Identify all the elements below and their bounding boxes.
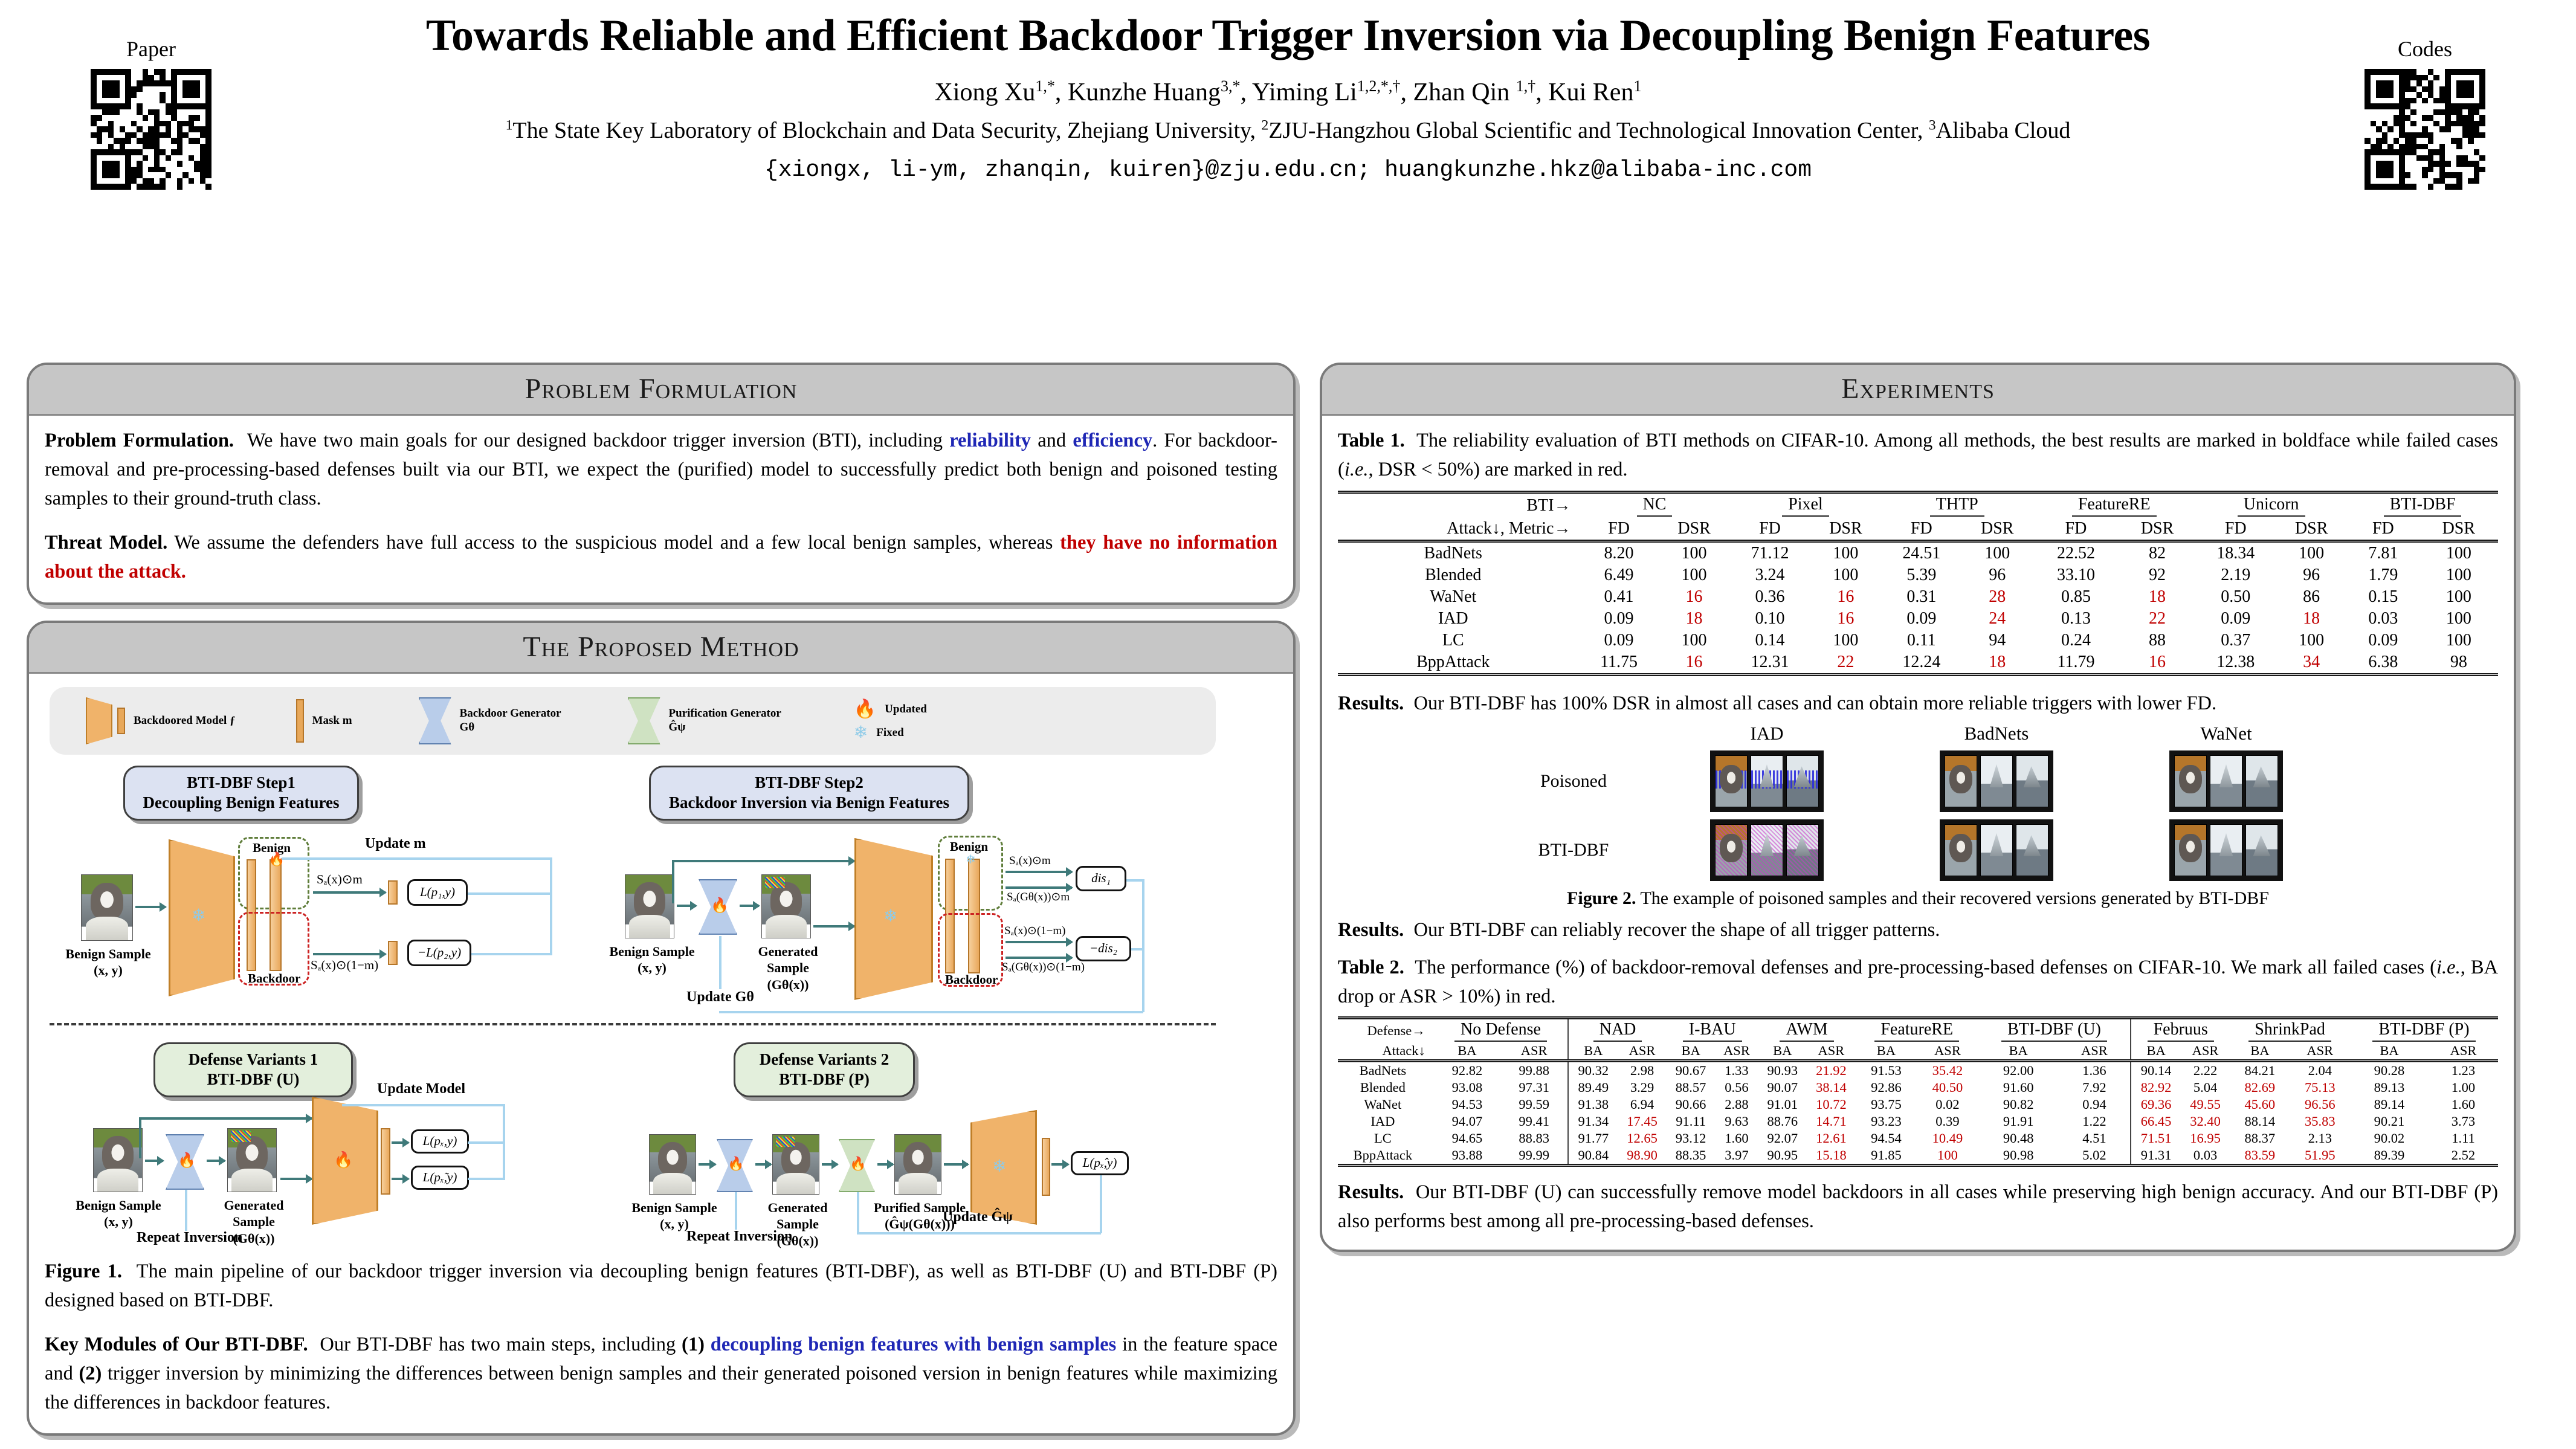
sample-thumb-dog xyxy=(1715,755,1748,807)
table1-cell-2-4: 0.31 xyxy=(1881,586,1961,608)
repeat-inversion-label-v1: Repeat Inversion xyxy=(137,1230,242,1246)
variant2-line1: Defense Variants 2 xyxy=(750,1050,899,1070)
table2-cell-4-0: 94.65 xyxy=(1434,1130,1500,1147)
panel-problem-header: Problem Formulation xyxy=(29,365,1293,416)
results-1-paragraph: Results. Our BTI-DBF has 100% DSR in alm… xyxy=(1338,689,2498,718)
table2-cell-3-12: 66.45 xyxy=(2131,1113,2181,1130)
step1-line1: BTI-DBF Step1 xyxy=(140,773,343,793)
author-list: Xiong Xu1,*, Kunzhe Huang3,*, Yiming Li1… xyxy=(338,77,2238,109)
snowflake-icon-step1: ❄ xyxy=(192,908,205,925)
table2-metric-4-0: BA xyxy=(1856,1042,1917,1061)
table2-cell-1-15: 75.13 xyxy=(2290,1079,2350,1096)
arrow-to-loss2-v1 xyxy=(392,1178,408,1180)
table2-cell-1-16: 89.13 xyxy=(2350,1079,2429,1096)
table1-cell-4-10: 0.09 xyxy=(2347,630,2419,651)
table2-metric-2-1: ASR xyxy=(1715,1042,1758,1061)
table2-cell-0-12: 90.14 xyxy=(2131,1060,2181,1079)
flame-icon-generator-step2: 🔥 xyxy=(711,899,729,913)
table2-cell-4-7: 12.61 xyxy=(1807,1130,1856,1147)
table2-cell-1-11: 7.92 xyxy=(2059,1079,2131,1096)
update-model-v-v1 xyxy=(503,1104,505,1179)
update-model-h1-v1 xyxy=(468,1141,505,1144)
table2-cell-0-14: 84.21 xyxy=(2230,1060,2290,1079)
table2-cell-3-13: 32.40 xyxy=(2181,1113,2230,1130)
generated-sample-image-step2 xyxy=(761,874,811,938)
snowflake-icon-v2: ❄ xyxy=(992,1158,1006,1175)
table1-metric-4-1: DSR xyxy=(2276,518,2347,541)
table1-cell-0-11: 100 xyxy=(2419,541,2498,564)
table2-cell-4-12: 71.51 xyxy=(2131,1130,2181,1147)
table2-cell-4-9: 10.49 xyxy=(1917,1130,1978,1147)
table1-cell-1-5: 96 xyxy=(1961,564,2033,586)
sample-thumb-dog xyxy=(2174,755,2207,807)
sample-thumb-ship2 xyxy=(2016,824,2048,876)
sample-thumb-ship2 xyxy=(1786,755,1819,807)
arrow-generator-to-gen-v2 xyxy=(755,1163,771,1166)
right-column: Experiments Table 1. The reliability eva… xyxy=(1320,363,2516,1436)
table1-cell-0-10: 7.81 xyxy=(2347,541,2419,564)
generated-sample-image-v1 xyxy=(227,1128,277,1192)
expr-sagx-m-step2: Sₐ(Gθ(x))⊙m xyxy=(1007,890,1070,904)
table2-attack-0: BadNets xyxy=(1338,1060,1434,1079)
table2-corner-top: Defense→ xyxy=(1338,1018,1434,1042)
table2-cell-5-6: 90.95 xyxy=(1758,1147,1807,1166)
panel-experiments-header: Experiments xyxy=(1322,365,2514,416)
arrow-to-generator-v1 xyxy=(145,1160,163,1162)
table2-cell-5-9: 100 xyxy=(1917,1147,1978,1166)
flame-icon-generator-v2: 🔥 xyxy=(728,1157,744,1170)
step2-title-box: BTI-DBF Step2 Backdoor Inversion via Ben… xyxy=(649,766,969,821)
arrow-generated-to-model-step2 xyxy=(813,925,854,928)
legend-label-purification-generator: Purification Generator Ĝψ xyxy=(669,707,781,734)
table1-metric-0-0: FD xyxy=(1579,518,1658,541)
table1-cell-1-0: 6.49 xyxy=(1579,564,1658,586)
codes-qr-block: Codes xyxy=(2365,36,2485,190)
table2-cell-1-17: 1.00 xyxy=(2429,1079,2498,1096)
table1-metric-2-0: FD xyxy=(1881,518,1961,541)
figure-2-caption: Figure 2. The example of poisoned sample… xyxy=(1338,888,2498,909)
table1-attack-1: Blended xyxy=(1338,564,1579,586)
repeat-inversion-v-v1 xyxy=(185,1190,187,1231)
table2-cell-3-16: 90.21 xyxy=(2350,1113,2429,1130)
table2-cell-2-13: 49.55 xyxy=(2181,1096,2230,1113)
table2-metric-5-0: BA xyxy=(1978,1042,2059,1061)
table2-attack-4: LC xyxy=(1338,1130,1434,1147)
trapezoid-model-icon xyxy=(86,697,112,744)
table2-cell-2-15: 96.56 xyxy=(2290,1096,2350,1113)
table2-cell-1-5: 0.56 xyxy=(1715,1079,1758,1096)
table2-metric-6-0: BA xyxy=(2131,1042,2181,1061)
sample-thumb-ship xyxy=(2210,824,2242,876)
table2-cell-4-3: 12.65 xyxy=(1618,1130,1667,1147)
benign-sample-caption-step1: Benign Sample (x, y) xyxy=(57,946,160,979)
table2-cell-5-16: 89.39 xyxy=(2350,1147,2429,1166)
table2-metric-1-1: ASR xyxy=(1618,1042,1667,1061)
flame-icon-purifier-v2: 🔥 xyxy=(850,1157,866,1170)
table1-cell-3-8: 0.09 xyxy=(2195,608,2276,630)
table2-metric-3-0: BA xyxy=(1758,1042,1807,1061)
expr-sax-1m-step1: Sₐ(x)⊙(1−m) xyxy=(311,958,378,973)
table-row: Blended93.0897.3189.493.2988.570.5690.07… xyxy=(1338,1079,2498,1096)
table1-cell-3-6: 0.13 xyxy=(2033,608,2119,630)
figure-1-caption: Figure 1. The main pipeline of our backd… xyxy=(45,1257,1277,1315)
arrow-sample-to-model-step1 xyxy=(135,906,166,908)
variant1-line1: Defense Variants 1 xyxy=(170,1050,337,1070)
table-defense-performance: Defense→No DefenseNADI-BAUAWMFeatureREBT… xyxy=(1338,1016,2498,1169)
variant1-title-box: Defense Variants 1 BTI-DBF (U) xyxy=(153,1042,353,1097)
benign-sample-caption-step2: Benign Sample (x, y) xyxy=(604,943,700,976)
table2-cell-0-16: 90.28 xyxy=(2350,1060,2429,1079)
step1-line2: Decoupling Benign Features xyxy=(140,793,343,813)
figure-2-column-headers: IAD BadNets WaNet xyxy=(1338,723,2498,744)
table1-metric-3-0: FD xyxy=(2033,518,2119,541)
table2-group-4: FeatureRE xyxy=(1856,1018,1978,1042)
table2-cell-5-10: 90.98 xyxy=(1978,1147,2059,1166)
arrow-to-loss1-v1 xyxy=(392,1141,408,1144)
step2-line2: Backdoor Inversion via Benign Features xyxy=(665,793,953,813)
table2-cell-4-15: 2.13 xyxy=(2290,1130,2350,1147)
table1-cell-1-9: 96 xyxy=(2276,564,2347,586)
fig2-cell-btidbf-iad xyxy=(1652,819,1882,881)
sample-thumb-dog xyxy=(2174,824,2207,876)
table1-cell-0-4: 24.51 xyxy=(1881,541,1961,564)
table1-cell-0-2: 71.12 xyxy=(1729,541,1810,564)
table2-metric-8-1: ASR xyxy=(2429,1042,2498,1061)
table2-cell-2-12: 69.36 xyxy=(2131,1096,2181,1113)
table2-cell-3-14: 88.14 xyxy=(2230,1113,2290,1130)
table2-group-3: AWM xyxy=(1758,1018,1856,1042)
results-2-paragraph: Results. Our BTI-DBF can reliably recove… xyxy=(1338,916,2498,945)
legend-item-backdoored-model: Backdoored Model ƒ xyxy=(86,697,236,744)
table2-group-6: Februus xyxy=(2131,1018,2230,1042)
codes-qr-label: Codes xyxy=(2365,36,2485,62)
panel-experiments-title: Experiments xyxy=(1841,373,1995,405)
table2-cell-4-6: 92.07 xyxy=(1758,1130,1807,1147)
table1-cell-4-2: 0.14 xyxy=(1729,630,1810,651)
fig2-cell-poisoned-iad xyxy=(1652,750,1882,812)
table2-cell-5-7: 15.18 xyxy=(1807,1147,1856,1166)
table2-metric-0-1: ASR xyxy=(1500,1042,1568,1061)
dis-feedback-h1-step2 xyxy=(1126,879,1144,882)
table-row: BadNets8.2010071.1210024.5110022.528218.… xyxy=(1338,541,2498,564)
table1-cell-5-6: 11.79 xyxy=(2033,651,2119,675)
arrow-sagx-1m-step2 xyxy=(1006,957,1072,959)
update-ghat-h-v2 xyxy=(857,1232,1101,1234)
purified-sample-image-v2 xyxy=(894,1134,941,1195)
table1-cell-5-1: 16 xyxy=(1659,651,1730,675)
mask-bar-icon xyxy=(296,699,304,743)
table-row: Blended6.491003.241005.399633.10922.1996… xyxy=(1338,564,2498,586)
table2-cell-5-3: 98.90 xyxy=(1618,1147,1667,1166)
table1-cell-0-8: 18.34 xyxy=(2195,541,2276,564)
table1-cell-2-3: 16 xyxy=(1810,586,1881,608)
table1-cell-0-1: 100 xyxy=(1659,541,1730,564)
table1-cell-2-6: 0.85 xyxy=(2033,586,2119,608)
paper-qr-code[interactable] xyxy=(91,69,211,190)
legend-item-mask: Mask m xyxy=(296,699,352,743)
fig2-col-header-badnets: BadNets xyxy=(1882,723,2111,744)
table2-cell-4-17: 1.11 xyxy=(2429,1130,2498,1147)
table2-cell-5-15: 51.95 xyxy=(2290,1147,2350,1166)
table1-cell-0-0: 8.20 xyxy=(1579,541,1658,564)
table2-cell-1-0: 93.08 xyxy=(1434,1079,1500,1096)
table1-cell-4-3: 100 xyxy=(1810,630,1881,651)
table2-cell-2-10: 90.82 xyxy=(1978,1096,2059,1113)
flame-icon: 🔥 xyxy=(854,700,876,718)
legend-item-fixed: ❄ Fixed xyxy=(854,724,927,741)
problem-formulation-paragraph: Problem Formulation. We have two main go… xyxy=(45,427,1277,513)
legend-label-mask: Mask m xyxy=(312,714,352,728)
fig2-row-label-btidbf: BTI-DBF xyxy=(1495,840,1652,860)
table2-cell-3-8: 93.23 xyxy=(1856,1113,1917,1130)
sample-thumb-ship2 xyxy=(2245,824,2278,876)
paper-qr-label: Paper xyxy=(91,36,211,62)
variant2-line2: BTI-DBF (P) xyxy=(750,1070,899,1089)
sample-thumb-ship xyxy=(1751,755,1783,807)
backdoor-feature-label-step1: Backdoor xyxy=(248,971,301,986)
table1-cell-3-10: 0.03 xyxy=(2347,608,2419,630)
table1-cell-4-7: 88 xyxy=(2119,630,2195,651)
table2-metric-0-0: BA xyxy=(1434,1042,1500,1061)
table2-cell-3-2: 91.34 xyxy=(1568,1113,1618,1130)
table1-cell-5-0: 11.75 xyxy=(1579,651,1658,675)
step2-line1: BTI-DBF Step2 xyxy=(665,773,953,793)
panel-problem-title: Problem Formulation xyxy=(525,373,798,405)
update-model-top-v1 xyxy=(342,1104,504,1106)
sample-thumb-dog xyxy=(1715,824,1748,876)
table2-cell-2-17: 1.60 xyxy=(2429,1096,2498,1113)
table2-cell-4-2: 91.77 xyxy=(1568,1130,1618,1147)
table1-cell-2-7: 18 xyxy=(2119,586,2195,608)
update-model-h2-v1 xyxy=(468,1178,505,1180)
table2-cell-3-0: 94.07 xyxy=(1434,1113,1500,1130)
table2-cell-1-8: 92.86 xyxy=(1856,1079,1917,1096)
legend-label-backdoored-model: Backdoored Model ƒ xyxy=(134,714,236,728)
flame-icon-generator-v1: 🔥 xyxy=(178,1154,196,1168)
dis-feedback-return-step2 xyxy=(719,1011,1143,1013)
backdoor-feature-label-step2: Backdoor xyxy=(945,972,998,987)
table1-group-3: FeatureRE xyxy=(2033,492,2195,518)
table1-metric-5-0: FD xyxy=(2347,518,2419,541)
panel-method-title: The Proposed Method xyxy=(523,631,799,663)
loss-box-pxt-v1: L(pₓ̃,y) xyxy=(411,1166,469,1190)
table1-cell-1-3: 100 xyxy=(1810,564,1881,586)
bypass-v-v1 xyxy=(139,1117,141,1158)
table2-cell-3-7: 14.71 xyxy=(1807,1113,1856,1130)
repeat-inversion-label-v2: Repeat Inversion xyxy=(686,1228,792,1245)
sample-thumb-ship xyxy=(1980,755,2013,807)
loss-box-pxh-v2: L(pₓ̂,y) xyxy=(1071,1151,1129,1175)
table2-cell-2-16: 89.14 xyxy=(2350,1096,2429,1113)
sample-thumb-ship2 xyxy=(2245,755,2278,807)
table1-cell-1-4: 5.39 xyxy=(1881,564,1961,586)
loss-box-p1-step1: L(p₁,y) xyxy=(407,879,468,906)
table2-cell-3-4: 91.11 xyxy=(1667,1113,1716,1130)
arrow-generated-to-model-v1 xyxy=(280,1178,312,1180)
expr-sagx-1m-step2: Sₐ(Gθ(x))⊙(1−m) xyxy=(1002,960,1085,974)
figure-2-grid: IAD BadNets WaNet Poisoned xyxy=(1338,723,2498,881)
loss-box-px-v1: L(pₓ,y) xyxy=(411,1129,469,1154)
table1-cell-0-3: 100 xyxy=(1810,541,1881,564)
arrow-bypass-to-model-v1 xyxy=(280,1117,312,1120)
table1-cell-3-5: 24 xyxy=(1961,608,2033,630)
results-3-paragraph: Results. Our BTI-DBF (U) can successfull… xyxy=(1338,1178,2498,1236)
table2-group-2: I-BAU xyxy=(1667,1018,1758,1042)
table2-corner-bottom: Attack↓ xyxy=(1338,1042,1434,1061)
table1-cell-2-1: 16 xyxy=(1659,586,1730,608)
table-row: WaNet94.5399.5991.386.9490.662.8891.0110… xyxy=(1338,1096,2498,1113)
table1-cell-2-10: 0.15 xyxy=(2347,586,2419,608)
variant2-title-box: Defense Variants 2 BTI-DBF (P) xyxy=(734,1042,915,1097)
table2-cell-5-5: 3.97 xyxy=(1715,1147,1758,1166)
figure-2-row-poisoned: Poisoned xyxy=(1338,750,2498,812)
table2-metric-1-0: BA xyxy=(1568,1042,1618,1061)
arrow-purified-to-model-v2 xyxy=(944,1163,968,1166)
table2-cell-1-2: 89.49 xyxy=(1568,1079,1618,1096)
table2-cell-4-1: 88.83 xyxy=(1500,1130,1568,1147)
table2-metric-8-0: BA xyxy=(2350,1042,2429,1061)
arrow-sax-1m-step2 xyxy=(1006,941,1072,943)
codes-qr-code[interactable] xyxy=(2365,69,2485,190)
expr-sax-1m-step2: Sₐ(x)⊙(1−m) xyxy=(1004,924,1066,938)
table2-cell-0-9: 35.42 xyxy=(1917,1060,1978,1079)
table2-cell-1-1: 97.31 xyxy=(1500,1079,1568,1096)
sample-thumb-ship xyxy=(1751,824,1783,876)
snowflake-icon-mask-step2: ❄ xyxy=(966,854,976,866)
table1-cell-0-7: 82 xyxy=(2119,541,2195,564)
table2-cell-1-14: 82.69 xyxy=(2230,1079,2290,1096)
table2-cell-0-5: 1.33 xyxy=(1715,1060,1758,1079)
table2-group-1: NAD xyxy=(1568,1018,1667,1042)
table2-cell-5-12: 91.31 xyxy=(2131,1147,2181,1166)
snowflake-icon-step2: ❄ xyxy=(883,908,897,925)
benign-sample-image-step1 xyxy=(81,874,133,941)
update-ghat-v-left-v2 xyxy=(857,1192,859,1233)
table1-cell-4-9: 100 xyxy=(2276,630,2347,651)
dis1-box-step2: dis₁ xyxy=(1076,866,1126,891)
table1-group-0: NC xyxy=(1579,492,1729,518)
table1-cell-3-11: 100 xyxy=(2419,608,2498,630)
table2-group-7: ShrinkPad xyxy=(2230,1018,2350,1042)
table1-cell-0-9: 100 xyxy=(2276,541,2347,564)
table2-cell-1-12: 82.92 xyxy=(2131,1079,2181,1096)
arrow-sax-m-step2 xyxy=(1006,871,1072,873)
table2-cell-5-13: 0.03 xyxy=(2181,1147,2230,1166)
table2-group-0: No Defense xyxy=(1434,1018,1569,1042)
arrow-purifier-to-sample-v2 xyxy=(877,1163,893,1166)
table1-cell-5-8: 12.38 xyxy=(2195,651,2276,675)
table-1-caption: Table 1. The reliability evaluation of B… xyxy=(1338,427,2498,485)
sample-thumb-dog xyxy=(1945,755,1977,807)
table2-cell-2-6: 91.01 xyxy=(1758,1096,1807,1113)
table2-cell-3-11: 1.22 xyxy=(2059,1113,2131,1130)
update-g-v-step2 xyxy=(719,936,721,989)
variant1-line2: BTI-DBF (U) xyxy=(170,1070,337,1089)
table1-attack-4: LC xyxy=(1338,630,1579,651)
table2-cell-4-16: 90.02 xyxy=(2350,1130,2429,1147)
feedback-top-step1 xyxy=(282,857,552,860)
threat-model-paragraph: Threat Model. We assume the defenders ha… xyxy=(45,529,1277,587)
table1-cell-2-9: 86 xyxy=(2276,586,2347,608)
fig2-cell-poisoned-wanet xyxy=(2111,750,2341,812)
table2-cell-0-2: 90.32 xyxy=(1568,1060,1618,1079)
table2-cell-5-2: 90.84 xyxy=(1568,1147,1618,1166)
table2-cell-2-7: 10.72 xyxy=(1807,1096,1856,1113)
table1-cell-4-11: 100 xyxy=(2419,630,2498,651)
feedback-h2-step1 xyxy=(471,953,552,955)
table2-cell-3-17: 3.73 xyxy=(2429,1113,2498,1130)
diagram-divider xyxy=(50,1023,1216,1025)
table1-cell-3-7: 22 xyxy=(2119,608,2195,630)
table2-cell-2-14: 45.60 xyxy=(2230,1096,2290,1113)
table1-cell-3-1: 18 xyxy=(1659,608,1730,630)
table1-cell-4-6: 0.24 xyxy=(2033,630,2119,651)
table-row: IAD0.09180.10160.09240.13220.09180.03100 xyxy=(1338,608,2498,630)
table2-metric-6-1: ASR xyxy=(2181,1042,2230,1061)
table2-cell-2-1: 99.59 xyxy=(1500,1096,1568,1113)
table2-attack-5: BppAttack xyxy=(1338,1147,1434,1166)
table2-group-5: BTI-DBF (U) xyxy=(1978,1018,2131,1042)
legend-label-fixed: Fixed xyxy=(876,726,903,740)
table1-cell-4-1: 100 xyxy=(1659,630,1730,651)
poster-header: Paper Codes Towards Reliable and Efficie… xyxy=(0,0,2576,347)
legend-item-backdoor-generator: Backdoor Generator Gθ xyxy=(419,697,561,744)
table2-cell-2-3: 6.94 xyxy=(1618,1096,1667,1113)
fig2-col-header-wanet: WaNet xyxy=(2111,723,2341,744)
table1-attack-3: IAD xyxy=(1338,608,1579,630)
update-ghat-label-v2: Update Ĝψ xyxy=(943,1209,1013,1225)
arrow-benign-feat-step1 xyxy=(313,891,386,894)
arrow-to-loss-v2 xyxy=(1051,1163,1068,1166)
table2-cell-2-2: 91.38 xyxy=(1568,1096,1618,1113)
loss-box-p2-step1: −L(p₂,y) xyxy=(407,940,471,966)
table1-metric-5-1: DSR xyxy=(2419,518,2498,541)
dis-feedback-down-step2 xyxy=(1142,948,1144,1012)
table1-cell-1-7: 92 xyxy=(2119,564,2195,586)
table2-cell-0-17: 1.23 xyxy=(2429,1060,2498,1079)
table2-cell-4-14: 88.37 xyxy=(2230,1130,2290,1147)
table1-cell-0-6: 22.52 xyxy=(2033,541,2119,564)
table2-cell-0-4: 90.67 xyxy=(1667,1060,1716,1079)
table2-cell-4-13: 16.95 xyxy=(2181,1130,2230,1147)
table2-cell-0-15: 2.04 xyxy=(2290,1060,2350,1079)
panel-problem-formulation: Problem Formulation Problem Formulation.… xyxy=(27,363,1296,605)
figure-1-diagram: Backdoored Model ƒ Mask m Backdoor Gener… xyxy=(45,687,1277,1249)
table1-cell-5-10: 6.38 xyxy=(2347,651,2419,675)
update-m-label: Update m xyxy=(365,836,426,852)
benign-sample-image-step2 xyxy=(625,874,674,938)
purification-generator-icon xyxy=(628,697,660,744)
table2-cell-3-3: 17.45 xyxy=(1618,1113,1667,1130)
paper-qr-block: Paper xyxy=(91,36,211,190)
benign-feature-label-step2: Benign xyxy=(950,839,988,854)
table2-cell-0-0: 92.82 xyxy=(1434,1060,1500,1079)
benign-sample-caption-v2: Benign Sample (x, y) xyxy=(627,1199,721,1233)
table2-cell-5-0: 93.88 xyxy=(1434,1147,1500,1166)
classifier-bar-v2 xyxy=(1042,1138,1050,1196)
feedback-v-step1 xyxy=(550,857,552,954)
arrow-sagx-m-step2 xyxy=(1006,886,1072,889)
table2-attack-3: IAD xyxy=(1338,1113,1434,1130)
table2-cell-5-1: 99.99 xyxy=(1500,1147,1568,1166)
table1-group-1: Pixel xyxy=(1729,492,1881,518)
repeat-inversion-v-v2 xyxy=(735,1192,737,1230)
arrow-generator-to-sample-v1 xyxy=(207,1160,225,1162)
arrow-gen-to-purifier-v2 xyxy=(822,1163,838,1166)
table2-cell-3-15: 35.83 xyxy=(2290,1113,2350,1130)
table1-cell-1-10: 1.79 xyxy=(2347,564,2419,586)
table1-cell-0-5: 100 xyxy=(1961,541,2033,564)
